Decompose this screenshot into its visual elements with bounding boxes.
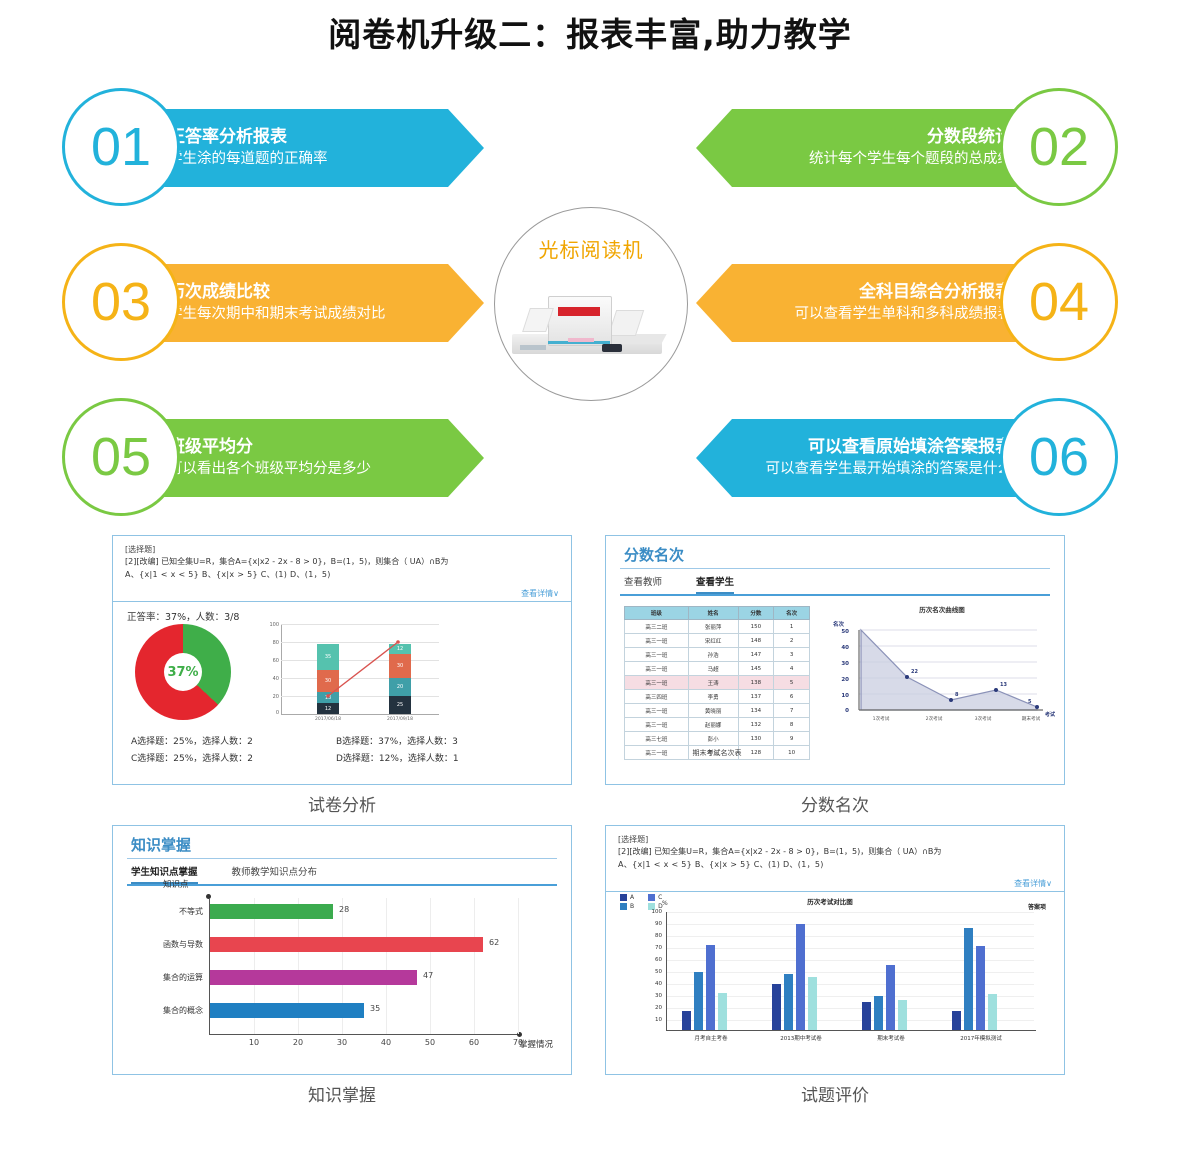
- gb-xtick-0: 月考自主考卷: [666, 1034, 756, 1042]
- panel-caption-paper-analysis: 试卷分析: [112, 791, 572, 816]
- trend-line: [281, 624, 439, 714]
- rank-th-rank: 名次: [774, 607, 810, 620]
- svg-text:10: 10: [841, 693, 849, 699]
- feature-title-02: 分数段统计: [742, 126, 1012, 149]
- legend-b: B: [630, 903, 634, 910]
- option-stat-a: A选择题：25%，选择人数：2: [131, 734, 336, 751]
- scanner-machine-icon: [506, 271, 676, 366]
- sbc-ytick-60: 60: [263, 658, 279, 664]
- gb-ytick-90: 90: [642, 921, 662, 927]
- svg-text:5: 5: [1028, 699, 1032, 705]
- feature-title-04: 全科目综合分析报表: [742, 281, 1012, 304]
- hb-cat-0: 不等式: [123, 906, 203, 917]
- sbc-ytick-100: 100: [263, 622, 279, 628]
- feature-row-3: 05 班级平均分 可以看出各个班级平均分是多少 06 可以查看原始填涂答案报表 …: [0, 398, 1180, 518]
- panel-caption-knowledge: 知识掌握: [112, 1081, 572, 1106]
- hb-val-3: 35: [370, 1004, 380, 1013]
- gb-ytick-40: 40: [642, 981, 662, 987]
- score-rank-tabs: 查看教师 查看学生: [606, 569, 1064, 594]
- gb-ytick-20: 20: [642, 1005, 662, 1011]
- option-stat-b: B选择题：37%，选择人数：3: [336, 734, 458, 751]
- hb-xtick-50: 50: [420, 1038, 440, 1047]
- panel-caption-score-rank: 分数名次: [605, 791, 1065, 816]
- panel-item-eval-box: [选择题] [2][改编] 已知全集U=R，集合A={x|x2 - 2x - 8…: [605, 825, 1065, 1075]
- feature-title-03: 历次成绩比较: [168, 281, 438, 304]
- page-title: 阅卷机升级二：报表丰富,助力教学: [0, 8, 1180, 56]
- feature-number-02: 02: [1000, 88, 1118, 206]
- option-stat-c: C选择题：25%，选择人数：2: [131, 751, 336, 768]
- panel-knowledge-box: 知识掌握 学生知识点掌握 教师教学知识点分布 知识点 不等式: [112, 825, 572, 1075]
- hb-val-2: 47: [423, 971, 433, 980]
- sbc-xtick-2: 2017/09/18: [374, 717, 426, 722]
- gb-ytick-50: 50: [642, 969, 662, 975]
- question-block: [选择题] [2][改编] 已知全集U=R，集合A={x|x2 - 2x - 8…: [113, 536, 571, 602]
- view-detail-link[interactable]: 查看详情∨: [1014, 878, 1052, 889]
- table-row: 高三二班张丽萍1501: [625, 620, 810, 634]
- feature-sub-01: 学生涂的每道题的正确率: [168, 149, 438, 169]
- feature-number-03: 03: [62, 243, 180, 361]
- hb-xtick-30: 30: [332, 1038, 352, 1047]
- table-row-highlighted: 高三一班王涛1385: [625, 676, 810, 690]
- rank-th-name: 姓名: [688, 607, 738, 620]
- rank-th-class: 班级: [625, 607, 689, 620]
- gb-ytick-80: 80: [642, 933, 662, 939]
- legend-a: A: [630, 894, 634, 901]
- correct-rate-text: 正答率：37%，人数：3/8: [113, 602, 571, 623]
- gb-ytick-100: 100: [642, 909, 662, 915]
- area-chart-svg: 50 40 30 20 10 0 22 8 13 5 1次考试 2次考试 3次考…: [831, 608, 1053, 736]
- question-tag: [选择题]: [125, 544, 559, 556]
- report-screenshots: [选择题] [2][改编] 已知全集U=R，集合A={x|x2 - 2x - 8…: [0, 530, 1180, 1150]
- gb-ytick-70: 70: [642, 945, 662, 951]
- option-stack-chart: 100 80 60 40 20 0 35 30 13 12 12 30 20 2…: [263, 624, 443, 732]
- question-stem: [2][改编] 已知全集U=R，集合A={x|x2 - 2x - 8 > 0}，…: [125, 556, 559, 569]
- item-evaluation-grouped-bars: A B C D 历次考试对比图 答案项 %: [620, 902, 1052, 1066]
- question-tag: [选择题]: [618, 834, 1052, 846]
- feature-title-05: 班级平均分: [168, 436, 438, 459]
- svg-text:50: 50: [841, 629, 849, 635]
- panel-item-eval: [选择题] [2][改编] 已知全集U=R，集合A={x|x2 - 2x - 8…: [605, 825, 1065, 1106]
- svg-text:2次考试: 2次考试: [926, 715, 943, 722]
- feature-sub-03: 学生每次期中和期末考试成绩对比: [168, 304, 438, 324]
- table-row: 高三七班彭小1309: [625, 732, 810, 746]
- feature-number-05: 05: [62, 398, 180, 516]
- rank-table: 班级 姓名 分数 名次 高三二班张丽萍1501 高三一班宋红红1482 高三一班…: [624, 606, 810, 760]
- view-detail-link[interactable]: 查看详情∨: [521, 588, 559, 599]
- feature-row-1: 01 正答率分析报表 学生涂的每道题的正确率 02 分数段统计 统计每个学生每个…: [0, 88, 1180, 208]
- hb-xtick-40: 40: [376, 1038, 396, 1047]
- sbc-ytick-80: 80: [263, 640, 279, 646]
- option-stats: A选择题：25%，选择人数：2B选择题：37%，选择人数：3 C选择题：25%，…: [131, 734, 555, 768]
- panel-paper-analysis-box: [选择题] [2][改编] 已知全集U=R，集合A={x|x2 - 2x - 8…: [112, 535, 572, 785]
- svg-text:期末考试: 期末考试: [1022, 715, 1041, 722]
- svg-text:13: 13: [1000, 682, 1007, 688]
- feature-title-06: 可以查看原始填涂答案报表: [742, 436, 1012, 459]
- gb-xtick-3: 2017年模拟测试: [936, 1034, 1026, 1042]
- area-chart-title: 历次名次曲线图: [831, 604, 1053, 614]
- feature-title-01: 正答率分析报表: [168, 126, 438, 149]
- hub-label: 光标阅读机: [539, 234, 644, 263]
- table-row: 高三一班宋红红1482: [625, 634, 810, 648]
- hb-val-1: 62: [489, 938, 499, 947]
- hb-cat-3: 集合的概念: [123, 1005, 203, 1016]
- panel-knowledge: 知识掌握 学生知识点掌握 教师教学知识点分布 知识点 不等式: [112, 825, 572, 1106]
- gb-xtick-2: 期末考试卷: [846, 1034, 936, 1042]
- sbc-ytick-0: 0: [263, 710, 279, 716]
- feature-number-06: 06: [1000, 398, 1118, 516]
- score-rank-title: 分数名次: [606, 536, 1064, 568]
- question-options: A、{x|1 < x < 5} B、{x|x > 5} C、(1) D、(1，5…: [618, 859, 1052, 872]
- gb-ytick-60: 60: [642, 957, 662, 963]
- panel-score-rank: 分数名次 查看教师 查看学生 班级 姓名 分数 名次 高三二班张丽萍1501: [605, 535, 1065, 816]
- sbc-ytick-40: 40: [263, 676, 279, 682]
- gb-ytick-10: 10: [642, 1017, 662, 1023]
- donut-center-label: 37%: [135, 624, 231, 720]
- table-row: 高三一班赵丽娜1328: [625, 718, 810, 732]
- table-row: 高三一班马超1454: [625, 662, 810, 676]
- option-stat-d: D选择题：12%，选择人数：1: [336, 751, 459, 768]
- feature-number-04: 04: [1000, 243, 1118, 361]
- knowledge-mastery-bars: 知识点 不等式 28 函数与导数 62 集合的运算: [123, 892, 563, 1068]
- panel-score-rank-box: 分数名次 查看教师 查看学生 班级 姓名 分数 名次 高三二班张丽萍1501: [605, 535, 1065, 785]
- hb-xtick-10: 10: [244, 1038, 264, 1047]
- feature-sub-02: 统计每个学生每个题段的总成绩: [742, 149, 1012, 169]
- tab-view-teacher[interactable]: 查看教师: [624, 574, 662, 594]
- sbc-ytick-20: 20: [263, 694, 279, 700]
- hb-xtick-60: 60: [464, 1038, 484, 1047]
- grouped-bar-title: 历次考试对比图: [730, 896, 930, 906]
- hb-cat-2: 集合的运算: [123, 972, 203, 983]
- gb-ytick-30: 30: [642, 993, 662, 999]
- area-xlabel: 考试: [1045, 712, 1055, 718]
- center-hub: 光标阅读机: [494, 207, 688, 401]
- feature-sub-06: 可以查看学生最开始填涂的答案是什么: [742, 459, 1012, 479]
- gb-ylabel: %: [662, 900, 668, 907]
- tab-teacher-knowledge[interactable]: 教师教学知识点分布: [232, 864, 318, 884]
- grouped-bar-note: 答案项: [1028, 902, 1046, 911]
- sbc-xtick-1: 2017/06/18: [302, 717, 354, 722]
- rank-table-header-row: 班级 姓名 分数 名次: [625, 607, 810, 620]
- feature-infographic: 01 正答率分析报表 学生涂的每道题的正确率 02 分数段统计 统计每个学生每个…: [0, 78, 1180, 528]
- rank-th-score: 分数: [738, 607, 774, 620]
- hb-val-0: 28: [339, 905, 349, 914]
- table-row: 高三四班李勇1376: [625, 690, 810, 704]
- knowledge-title: 知识掌握: [113, 826, 571, 858]
- table-row: 高三一班黄晓丽1347: [625, 704, 810, 718]
- svg-text:30: 30: [841, 661, 849, 667]
- hb-xtick-20: 20: [288, 1038, 308, 1047]
- svg-text:8: 8: [955, 692, 959, 698]
- area-ylabel: 名次: [833, 620, 844, 628]
- svg-text:40: 40: [841, 645, 849, 651]
- svg-text:1次考试: 1次考试: [873, 715, 890, 722]
- hb-ylabel: 知识点: [163, 878, 189, 890]
- svg-text:3次考试: 3次考试: [975, 715, 992, 722]
- panel-caption-item-eval: 试题评价: [605, 1081, 1065, 1106]
- question-options: A、{x|1 < x < 5} B、{x|x > 5} C、(1) D、(1，5…: [125, 569, 559, 582]
- tab-view-student[interactable]: 查看学生: [696, 574, 734, 594]
- question-stem: [2][改编] 已知全集U=R，集合A={x|x2 - 2x - 8 > 0}，…: [618, 846, 1052, 859]
- hb-xlabel: 掌握情况: [519, 1038, 553, 1050]
- rank-history-curve: 历次名次曲线图 名次 考试: [831, 608, 1053, 758]
- gb-xtick-1: 2013期中考试卷: [756, 1034, 846, 1042]
- svg-text:20: 20: [841, 677, 849, 683]
- panel-paper-analysis: [选择题] [2][改编] 已知全集U=R，集合A={x|x2 - 2x - 8…: [112, 535, 572, 816]
- feature-sub-04: 可以查看学生单科和多科成绩报表: [742, 304, 1012, 324]
- svg-text:22: 22: [911, 669, 918, 675]
- hb-cat-1: 函数与导数: [123, 939, 203, 950]
- table-row: 高三一班孙浩1473: [625, 648, 810, 662]
- rank-table-caption: 期末考试名次表: [624, 748, 810, 758]
- feature-sub-05: 可以看出各个班级平均分是多少: [168, 459, 438, 479]
- feature-number-01: 01: [62, 88, 180, 206]
- question-block: [选择题] [2][改编] 已知全集U=R，集合A={x|x2 - 2x - 8…: [606, 826, 1064, 892]
- svg-text:0: 0: [845, 708, 849, 714]
- correct-rate-donut: 37%: [135, 624, 245, 734]
